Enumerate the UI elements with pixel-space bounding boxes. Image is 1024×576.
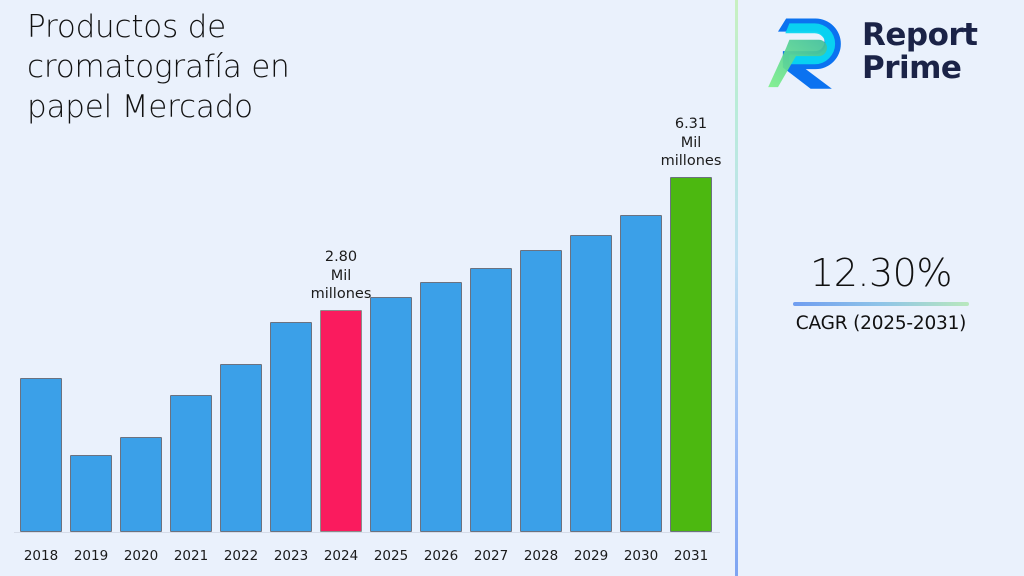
cagr-block: 12.30% CAGR (2025-2031): [738, 252, 1024, 334]
bar-2022[interactable]: [220, 364, 262, 532]
cagr-caption: CAGR (2025-2031): [738, 313, 1024, 334]
bar-2023[interactable]: [270, 322, 312, 532]
x-tick-2021: 2021: [174, 548, 208, 564]
x-tick-2027: 2027: [474, 548, 508, 564]
bar-chart-plot: 2018201920202021202220232.80 Mil millone…: [0, 0, 736, 576]
x-tick-2022: 2022: [224, 548, 258, 564]
bar-slot-2020[interactable]: 2020: [120, 437, 162, 532]
logo-wordmark: Report Prime: [862, 19, 978, 86]
chart-page: Productos de cromatografía en papel Merc…: [0, 0, 1024, 576]
chart-panel: Productos de cromatografía en papel Merc…: [0, 0, 736, 576]
bar-slot-2019[interactable]: 2019: [70, 455, 112, 532]
x-tick-2031: 2031: [674, 548, 708, 564]
report-prime-logo: Report Prime: [768, 12, 978, 92]
x-tick-2023: 2023: [274, 548, 308, 564]
bar-slot-2021[interactable]: 2021: [170, 395, 212, 532]
x-tick-2030: 2030: [624, 548, 658, 564]
bar-2029[interactable]: [570, 235, 612, 532]
x-tick-2026: 2026: [424, 548, 458, 564]
report-prime-logo-mark: [768, 12, 850, 92]
bar-slot-2028[interactable]: 2028: [520, 250, 562, 532]
x-tick-2028: 2028: [524, 548, 558, 564]
bar-slot-2024[interactable]: 2.80 Mil millones2024: [320, 310, 362, 532]
brand-panel: Report Prime 12.30% CAGR (2025-2031): [738, 0, 1024, 576]
x-tick-2020: 2020: [124, 548, 158, 564]
x-tick-2029: 2029: [574, 548, 608, 564]
bar-2031[interactable]: [670, 177, 712, 532]
bar-value-label-2024: 2.80 Mil millones: [311, 248, 372, 304]
x-axis-line: [14, 532, 720, 533]
bar-slot-2031[interactable]: 6.31 Mil millones2031: [670, 177, 712, 532]
x-tick-2025: 2025: [374, 548, 408, 564]
bar-value-label-2031: 6.31 Mil millones: [661, 115, 722, 171]
bar-slot-2026[interactable]: 2026: [420, 282, 462, 532]
bar-2019[interactable]: [70, 455, 112, 532]
bar-slot-2027[interactable]: 2027: [470, 268, 512, 532]
bar-2028[interactable]: [520, 250, 562, 532]
bar-2030[interactable]: [620, 215, 662, 532]
bar-2024[interactable]: [320, 310, 362, 532]
bar-2018[interactable]: [20, 378, 62, 532]
x-tick-2019: 2019: [74, 548, 108, 564]
bar-2026[interactable]: [420, 282, 462, 532]
cagr-value: 12.30%: [738, 252, 1024, 296]
bar-2020[interactable]: [120, 437, 162, 532]
x-tick-2024: 2024: [324, 548, 358, 564]
bar-slot-2018[interactable]: 2018: [20, 378, 62, 532]
x-tick-2018: 2018: [24, 548, 58, 564]
cagr-divider-rule: [793, 302, 969, 306]
bar-slot-2022[interactable]: 2022: [220, 364, 262, 532]
bar-2025[interactable]: [370, 297, 412, 532]
bar-slot-2029[interactable]: 2029: [570, 235, 612, 532]
bar-slot-2025[interactable]: 2025: [370, 297, 412, 532]
bar-2021[interactable]: [170, 395, 212, 532]
bar-slot-2023[interactable]: 2023: [270, 322, 312, 532]
bar-slot-2030[interactable]: 2030: [620, 215, 662, 532]
bar-2027[interactable]: [470, 268, 512, 532]
